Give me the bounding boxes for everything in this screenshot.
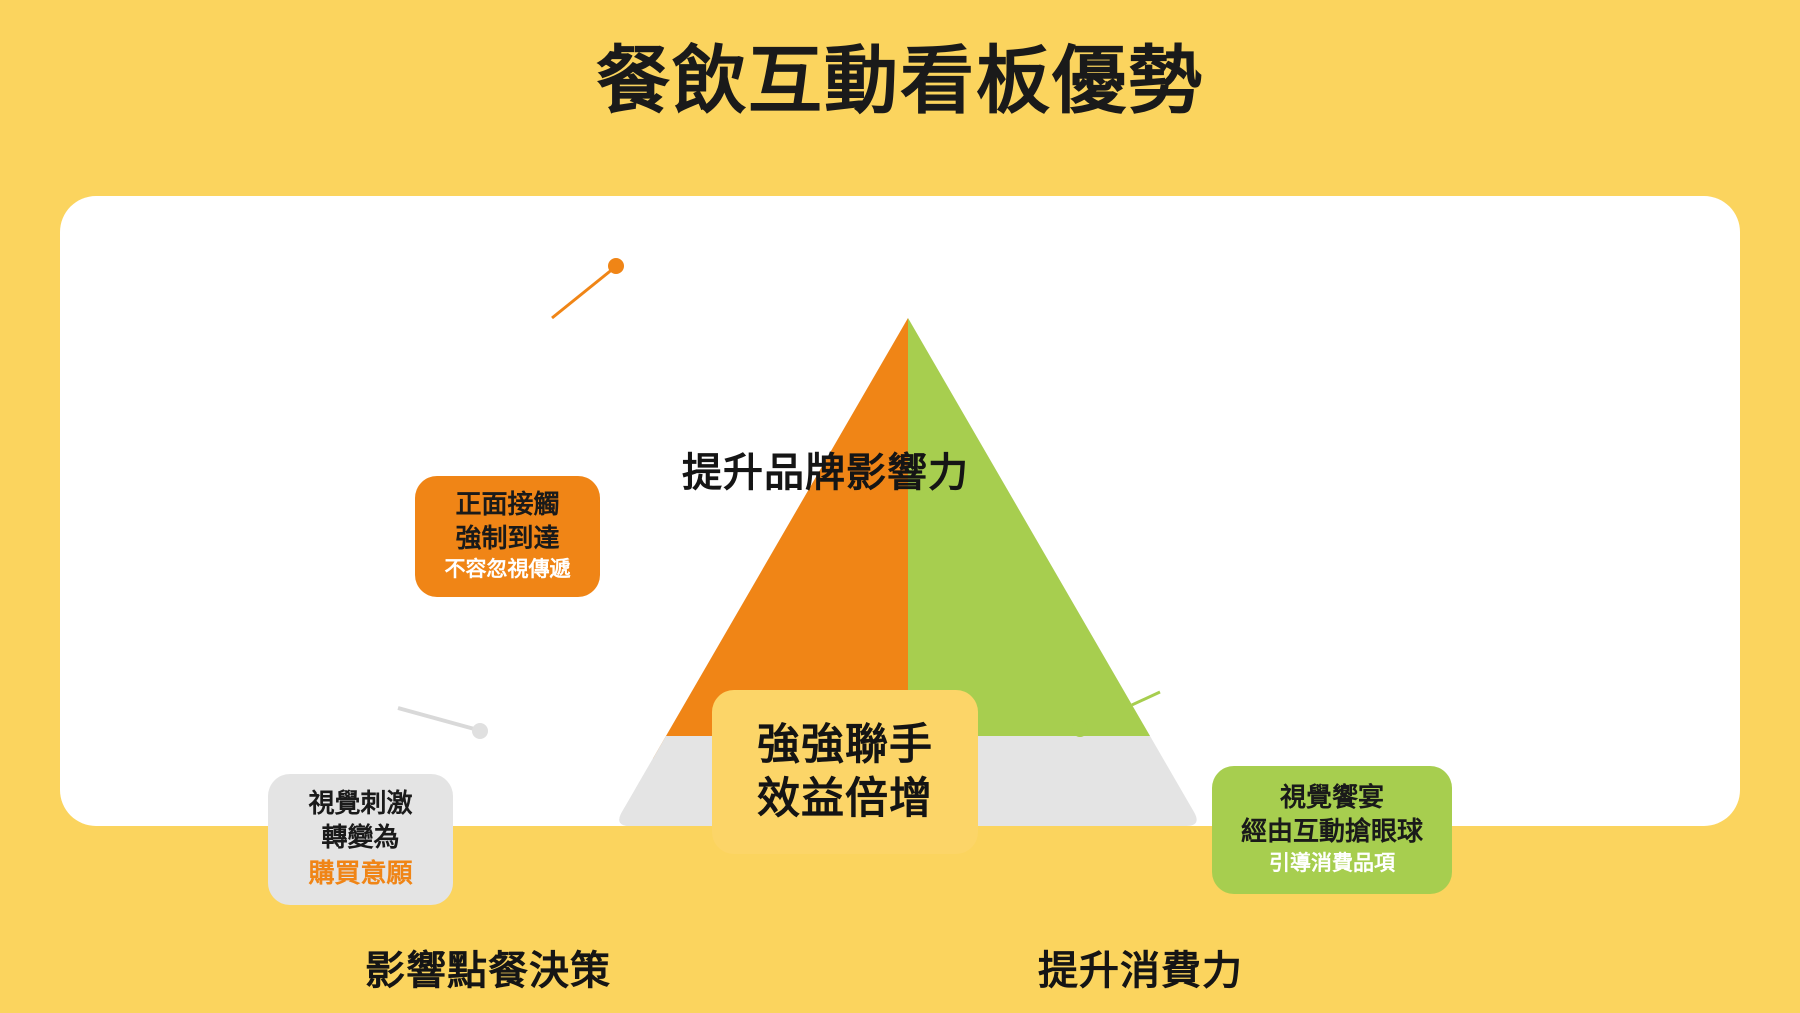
- center-badge: 強強聯手 效益倍增: [712, 690, 978, 854]
- callout-green[interactable]: 視覺饗宴 經由互動搶眼球 引導消費品項: [1212, 766, 1452, 894]
- callout-gray-line2: 轉變為: [321, 820, 399, 854]
- callout-gray-line3: 購買意願: [308, 856, 412, 891]
- center-badge-line2: 效益倍增: [757, 775, 933, 823]
- node-label-spending-power: 提升消費力: [1038, 938, 1243, 996]
- page-title: 餐飲互動看板優勢: [0, 38, 1800, 123]
- callout-green-line2: 經由互動搶眼球: [1241, 814, 1423, 848]
- node-dot-brand-influence: [608, 258, 624, 274]
- node-label-order-decision: 影響點餐決策: [365, 938, 611, 996]
- node-label-brand-influence: 提升品牌影響力: [682, 440, 969, 498]
- callout-orange-line3: 不容忽視傳遞: [445, 556, 571, 584]
- callout-gray-line1: 視覺刺激: [308, 786, 412, 820]
- content-card: 強強聯手 效益倍增 正面接觸 強制到達 不容忽視傳遞 視覺刺激 轉變為 購買意願…: [60, 196, 1740, 826]
- callout-green-line3: 引導消費品項: [1269, 850, 1395, 878]
- node-dot-order-decision: [472, 723, 488, 739]
- callout-orange[interactable]: 正面接觸 強制到達 不容忽視傳遞: [415, 476, 600, 597]
- callout-orange-line2: 強制到達: [455, 521, 559, 555]
- callout-green-line1: 視覺饗宴: [1280, 780, 1384, 814]
- callout-orange-line1: 正面接觸: [455, 487, 559, 521]
- center-badge-line1: 強強聯手: [757, 721, 933, 769]
- callout-gray[interactable]: 視覺刺激 轉變為 購買意願: [268, 774, 453, 905]
